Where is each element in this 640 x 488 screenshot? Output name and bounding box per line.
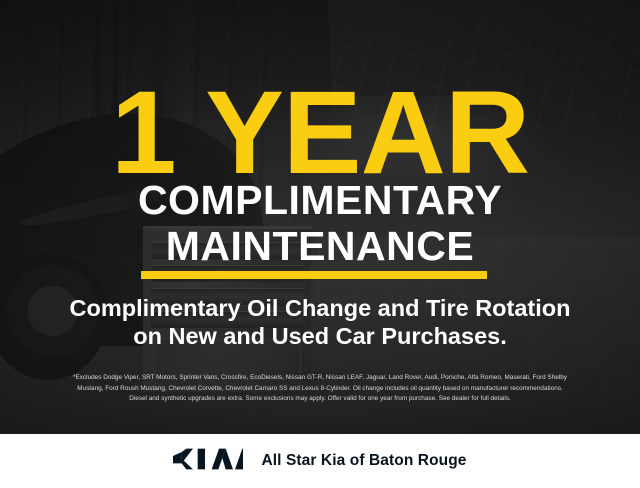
kia-logo-icon: [173, 447, 243, 476]
promo-content: 1 YEAR COMPLIMENTARY MAINTENANCE Complim…: [0, 0, 640, 434]
offer-description-line-2: on New and Used Car Purchases.: [0, 322, 640, 350]
headline-maintenance: MAINTENANCE: [0, 226, 640, 267]
yellow-divider-rule: [141, 271, 487, 279]
headline-year: 1 YEAR: [0, 74, 640, 192]
disclaimer-line-1: *Excludes Dodge Viper, SRT Motors, Sprin…: [12, 373, 628, 384]
dealer-footer-bar: All Star Kia of Baton Rouge: [0, 434, 640, 488]
dealer-name-label: All Star Kia of Baton Rouge: [261, 452, 466, 470]
offer-description-line-1: Complimentary Oil Change and Tire Rotati…: [0, 294, 640, 322]
headline-complimentary: COMPLIMENTARY: [0, 180, 640, 221]
disclaimer-fine-print: *Excludes Dodge Viper, SRT Motors, Sprin…: [12, 373, 628, 405]
disclaimer-line-2: Mustang, Ford Roush Mustang, Chevrolet C…: [12, 384, 628, 395]
disclaimer-line-3: Diesel and synthetic upgrades are extra.…: [12, 394, 628, 405]
service-promo-banner: 1 YEAR COMPLIMENTARY MAINTENANCE Complim…: [0, 0, 640, 488]
